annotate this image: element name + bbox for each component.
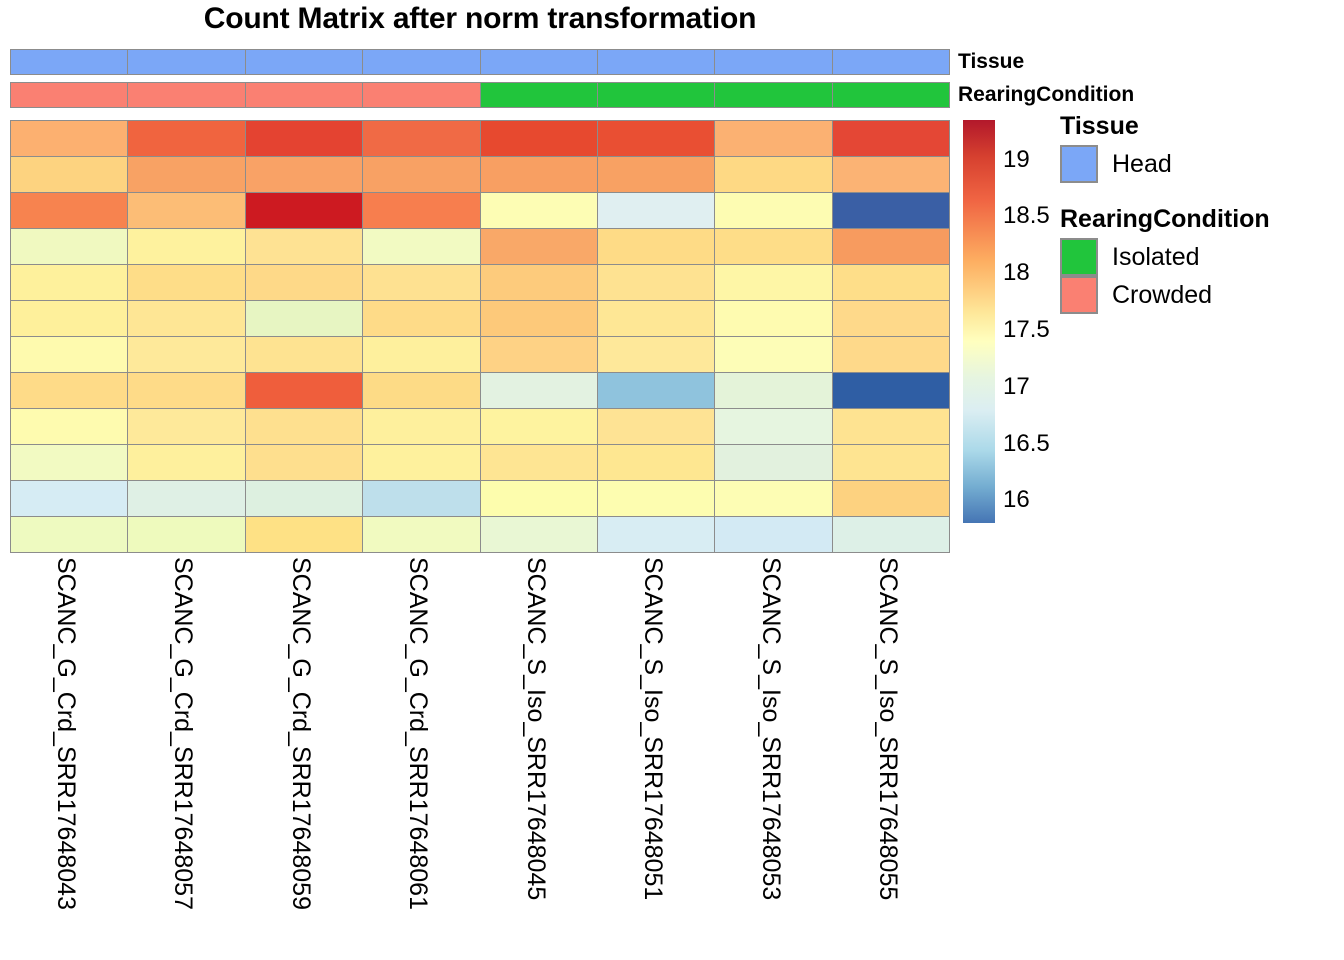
heatmap-cell — [597, 264, 715, 301]
column-label: SCANC_G_Crd_SRR17648061 — [405, 557, 430, 910]
heatmap-row — [10, 408, 950, 445]
legend-item-label: Crowded — [1112, 281, 1212, 310]
legend-item: Head — [1060, 145, 1172, 183]
heatmap-cell — [597, 156, 715, 193]
heatmap-cell — [10, 264, 128, 301]
heatmap-cell — [127, 156, 245, 193]
heatmap-cell — [832, 264, 950, 301]
heatmap-cell — [714, 480, 832, 517]
column-label-slot: SCANC_S_Iso_SRR17648051 — [598, 553, 716, 953]
column-label: SCANC_G_Crd_SRR17648043 — [53, 557, 78, 910]
heatmap-row — [10, 480, 950, 517]
heatmap-cell — [10, 300, 128, 337]
heatmap-cell — [832, 192, 950, 229]
colorbar-tick-label: 18 — [1003, 259, 1030, 287]
heatmap-cell — [480, 120, 598, 157]
chart-title: Count Matrix after norm transformation — [0, 2, 960, 36]
heatmap-cell — [597, 516, 715, 553]
heatmap-cell — [714, 156, 832, 193]
heatmap-cell — [832, 372, 950, 409]
heatmap-cell — [480, 336, 598, 373]
heatmap-cell — [245, 408, 363, 445]
heatmap-cell — [597, 192, 715, 229]
heatmap-cell — [480, 408, 598, 445]
annotation-cell — [597, 49, 715, 75]
heatmap-cell — [127, 192, 245, 229]
heatmap-cell — [832, 444, 950, 481]
heatmap-cell — [127, 228, 245, 265]
heatmap-cell — [362, 444, 480, 481]
heatmap-cell — [127, 264, 245, 301]
column-label-slot: SCANC_G_Crd_SRR17648043 — [10, 553, 128, 953]
heatmap-cell — [480, 516, 598, 553]
heatmap-row — [10, 264, 950, 301]
column-labels: SCANC_G_Crd_SRR17648043SCANC_G_Crd_SRR17… — [10, 553, 950, 953]
heatmap-cell — [480, 192, 598, 229]
column-label: SCANC_G_Crd_SRR17648059 — [288, 557, 313, 910]
annotation-track-label-rearingcondition: RearingCondition — [958, 82, 1134, 108]
heatmap-cell — [245, 192, 363, 229]
heatmap-cell — [480, 228, 598, 265]
annotation-cell — [714, 82, 832, 108]
column-label-slot: SCANC_S_Iso_SRR17648053 — [715, 553, 833, 953]
annotation-cell — [714, 49, 832, 75]
annotation-track-label-tissue: Tissue — [958, 49, 1024, 75]
annotation-cell — [597, 82, 715, 108]
heatmap-cell — [245, 480, 363, 517]
legend-swatch — [1060, 238, 1098, 276]
heatmap-cell — [127, 408, 245, 445]
heatmap-row — [10, 192, 950, 229]
colorbar-gradient — [963, 120, 995, 523]
legend-rearingcondition: RearingCondition IsolatedCrowded — [1060, 205, 1270, 314]
colorbar-tick-label: 18.5 — [1003, 202, 1050, 230]
legend-tissue: Tissue Head — [1060, 112, 1172, 183]
heatmap-cell — [245, 228, 363, 265]
heatmap-cell — [480, 300, 598, 337]
heatmap-cell — [714, 228, 832, 265]
heatmap-cell — [832, 408, 950, 445]
heatmap-cell — [10, 192, 128, 229]
heatmap-cell — [480, 444, 598, 481]
annotation-cell — [832, 49, 950, 75]
heatmap-row — [10, 444, 950, 481]
heatmap-cell — [362, 120, 480, 157]
heatmap-cell — [245, 120, 363, 157]
heatmap-cell — [127, 336, 245, 373]
colorbar-tick-label: 16 — [1003, 486, 1030, 514]
heatmap-cell — [245, 516, 363, 553]
heatmap-cell — [597, 336, 715, 373]
heatmap-figure: Count Matrix after norm transformation T… — [0, 0, 1344, 960]
column-label: SCANC_S_Iso_SRR17648055 — [875, 557, 900, 900]
column-label-slot: SCANC_G_Crd_SRR17648057 — [128, 553, 246, 953]
heatmap-cell — [480, 264, 598, 301]
heatmap-cell — [127, 444, 245, 481]
column-label-slot: SCANC_G_Crd_SRR17648059 — [245, 553, 363, 953]
colorbar-legend: 1918.51817.51716.516 — [963, 120, 995, 523]
legend-swatch — [1060, 145, 1098, 183]
heatmap-cell — [245, 156, 363, 193]
heatmap-cell — [10, 228, 128, 265]
colorbar-tick-label: 17 — [1003, 373, 1030, 401]
heatmap-cell — [832, 300, 950, 337]
heatmap-cell — [597, 444, 715, 481]
annotation-track-rearingcondition — [10, 82, 950, 108]
heatmap-cell — [597, 228, 715, 265]
heatmap-cell — [597, 120, 715, 157]
legend-items-rearingcondition: IsolatedCrowded — [1060, 238, 1270, 314]
heatmap-row — [10, 300, 950, 337]
annotation-cell — [480, 49, 598, 75]
annotation-cell — [832, 82, 950, 108]
column-label-slot: SCANC_G_Crd_SRR17648061 — [363, 553, 481, 953]
heatmap-cell — [597, 372, 715, 409]
heatmap-cell — [597, 480, 715, 517]
heatmap-cell — [127, 300, 245, 337]
legend-item-label: Head — [1112, 150, 1172, 179]
heatmap-cell — [714, 192, 832, 229]
legend-swatch — [1060, 276, 1098, 314]
legend-item: Crowded — [1060, 276, 1270, 314]
heatmap-cell — [362, 300, 480, 337]
heatmap-cell — [10, 408, 128, 445]
heatmap-cell — [362, 480, 480, 517]
heatmap-cell — [362, 372, 480, 409]
heatmap-cell — [10, 372, 128, 409]
heatmap-cell — [714, 264, 832, 301]
heatmap-cell — [832, 228, 950, 265]
heatmap-cell — [480, 156, 598, 193]
heatmap-cell — [245, 264, 363, 301]
heatmap-row — [10, 228, 950, 265]
heatmap-cell — [245, 372, 363, 409]
heatmap-cell — [245, 300, 363, 337]
legend-title-rearingcondition: RearingCondition — [1060, 205, 1270, 234]
heatmap-cell — [714, 408, 832, 445]
annotation-cell — [480, 82, 598, 108]
colorbar-tick-label: 17.5 — [1003, 316, 1050, 344]
annotation-cell — [362, 49, 480, 75]
heatmap-cell — [832, 156, 950, 193]
column-label: SCANC_S_Iso_SRR17648045 — [523, 557, 548, 900]
column-label-slot: SCANC_S_Iso_SRR17648045 — [480, 553, 598, 953]
annotation-cell — [245, 49, 363, 75]
heatmap-cell — [127, 372, 245, 409]
column-label-slot: SCANC_S_Iso_SRR17648055 — [833, 553, 951, 953]
heatmap-cell — [480, 480, 598, 517]
heatmap-cell — [832, 120, 950, 157]
legend-title-tissue: Tissue — [1060, 112, 1172, 141]
heatmap-row — [10, 120, 950, 157]
heatmap-cell — [362, 264, 480, 301]
heatmap-cell — [597, 408, 715, 445]
heatmap-cell — [480, 372, 598, 409]
heatmap-cell — [714, 120, 832, 157]
heatmap-cell — [127, 120, 245, 157]
heatmap-cell — [714, 516, 832, 553]
legend-item: Isolated — [1060, 238, 1270, 276]
legend-items-tissue: Head — [1060, 145, 1172, 183]
heatmap-cell — [362, 192, 480, 229]
heatmap-grid — [10, 120, 950, 553]
legend-item-label: Isolated — [1112, 243, 1200, 272]
column-label: SCANC_G_Crd_SRR17648057 — [170, 557, 195, 910]
heatmap-cell — [127, 516, 245, 553]
heatmap-cell — [362, 228, 480, 265]
heatmap-cell — [127, 480, 245, 517]
heatmap-cell — [10, 336, 128, 373]
column-label: SCANC_S_Iso_SRR17648051 — [640, 557, 665, 900]
colorbar-tick-label: 16.5 — [1003, 430, 1050, 458]
heatmap-cell — [714, 372, 832, 409]
annotation-cell — [10, 49, 128, 75]
heatmap-cell — [362, 516, 480, 553]
heatmap-cell — [10, 156, 128, 193]
heatmap-cell — [362, 156, 480, 193]
heatmap-cell — [714, 300, 832, 337]
annotation-cell — [362, 82, 480, 108]
heatmap-row — [10, 336, 950, 373]
annotation-cell — [245, 82, 363, 108]
heatmap-cell — [10, 516, 128, 553]
column-label: SCANC_S_Iso_SRR17648053 — [758, 557, 783, 900]
heatmap-cell — [714, 336, 832, 373]
heatmap-row — [10, 372, 950, 409]
heatmap-cell — [832, 336, 950, 373]
heatmap-row — [10, 156, 950, 193]
heatmap-cell — [714, 444, 832, 481]
colorbar-tick-label: 19 — [1003, 146, 1030, 174]
annotation-track-tissue — [10, 49, 950, 75]
annotation-cell — [10, 82, 128, 108]
heatmap-cell — [597, 300, 715, 337]
heatmap-cell — [10, 120, 128, 157]
heatmap-cell — [832, 480, 950, 517]
heatmap-cell — [10, 480, 128, 517]
heatmap-cell — [245, 444, 363, 481]
heatmap-row — [10, 516, 950, 553]
heatmap-cell — [362, 336, 480, 373]
heatmap-cell — [362, 408, 480, 445]
heatmap-cell — [10, 444, 128, 481]
heatmap-cell — [245, 336, 363, 373]
annotation-cell — [127, 49, 245, 75]
heatmap-cell — [832, 516, 950, 553]
annotation-cell — [127, 82, 245, 108]
